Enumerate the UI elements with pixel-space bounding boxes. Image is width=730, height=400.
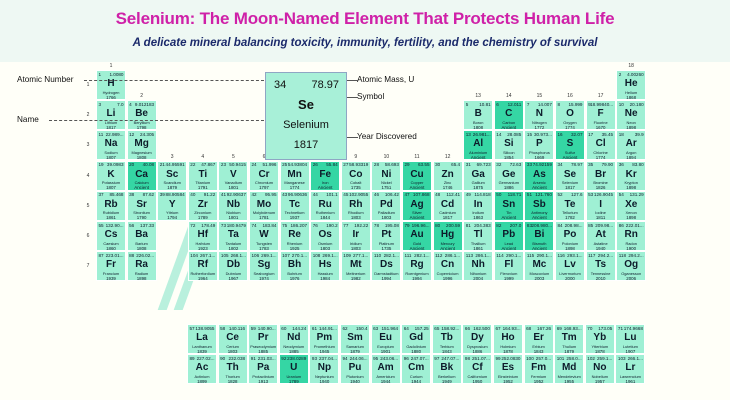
element-symbol: Gd [402,332,430,343]
element-cell-ag[interactable]: 47107.868AgSilverAncient [402,191,432,221]
element-atomic-number: 20 [129,162,134,168]
element-symbol: Ge [495,169,523,180]
element-cell-b[interactable]: 510.81BBoron1808 [463,100,493,130]
element-cell-ba[interactable]: 56137.33BaBarium1808 [127,221,157,251]
element-year: 1808 [128,246,156,251]
element-atomic-number: 26 [313,162,318,168]
element-atomic-number: 55 [99,223,104,229]
label-year-discovered: Year Discovered [357,132,417,141]
element-symbol: Ds [372,259,400,270]
element-atomic-number: 10 [619,102,624,108]
element-cell-db[interactable]: 105268.1...DbDubnium1967 [218,251,248,281]
element-atomic-number: 71 [618,326,623,332]
element-cell-mn[interactable]: 2554.93804MnManganese1774 [280,161,310,191]
element-cell-pr[interactable]: 59140.90...PrPraseodymium1885 [248,324,278,354]
element-year: 1808 [128,155,156,160]
element-atomic-number: 72 [190,223,195,229]
element-atomic-number: 90 [220,356,225,362]
element-cell-sm[interactable]: 62150.4SmSamarium1879 [340,324,370,354]
element-cell-la[interactable]: 57138.9055LaLanthanum1839 [187,324,217,354]
element-atomic-mass: 101.1 [326,192,338,198]
element-cell-am[interactable]: 95243.06...AmAmericium1944 [371,354,401,384]
element-year: 1791 [189,185,217,190]
element-cell-na[interactable]: 1122.989...NaSodium1807 [96,130,126,160]
element-symbol: Po [556,229,584,240]
element-cell-pb[interactable]: 82207.0PbLeadAncient [494,221,524,251]
element-atomic-mass: 180.9479 [227,223,246,229]
element-atomic-mass: 47.867 [201,162,215,168]
element-symbol: Cr [250,169,278,180]
element-year: Ancient [495,215,523,220]
label-symbol: Symbol [357,92,384,101]
legend-name: Selenium [266,119,346,131]
legend-atomic-mass: 78.97 [311,79,339,91]
element-atomic-number: 50 [496,192,501,198]
element-cell-n[interactable]: 714.007NNitrogen1772 [524,100,554,130]
element-cell-md[interactable]: 101258.0...MdMendelevium1955 [554,354,584,384]
element-atomic-number: 42 [252,192,257,198]
element-atomic-number: 15 [527,132,532,138]
element-atomic-number: 64 [404,326,409,332]
element-cell-ne[interactable]: 1020.180NeNeon1898 [616,100,646,130]
element-cell-li[interactable]: 37.0LiLithium1817 [96,100,126,130]
element-year: 1925 [281,246,309,251]
element-atomic-mass: 55.84 [326,162,338,168]
element-atomic-number: 100 [526,356,534,362]
element-year: 1940 [310,379,338,384]
element-cell-tc[interactable]: 4396.90636TcTechnetium1937 [280,191,310,221]
element-year: 1964 [189,276,217,281]
element-symbol: Hs [311,259,339,270]
element-atomic-mass: 1.0080 [109,72,123,78]
element-atomic-number: 91 [251,356,256,362]
element-symbol: Md [555,362,583,373]
element-atomic-number: 5 [466,102,469,108]
element-atomic-mass: 162.500 [473,326,490,332]
element-cell-dy[interactable]: 66162.500DyDysprosium1886 [462,324,492,354]
element-cell-ho[interactable]: 67164.93...HoHolmium1878 [493,324,523,354]
element-year: 1974 [250,276,278,281]
element-symbol: Rn [617,229,645,240]
element-cell-tm[interactable]: 69168.93...TmThulium1879 [554,324,584,354]
element-atomic-number: 21 [160,162,165,168]
element-year: 1803 [219,349,247,354]
element-atomic-number: 116 [558,253,565,259]
element-atomic-number: 2 [619,72,622,78]
element-atomic-mass: 51.996 [262,162,276,168]
element-symbol: Na [97,138,125,149]
element-cell-ni[interactable]: 2858.693NiNickel1751 [371,161,401,191]
element-cell-w[interactable]: 74183.84WTungsten1783 [249,221,279,251]
element-atomic-number: 102 [587,356,595,362]
element-year: Ancient [434,246,462,251]
element-symbol: Mo [250,199,278,210]
element-atomic-number: 113 [466,253,473,259]
element-cell-fe[interactable]: 2655.84FeIronAncient [310,161,340,191]
element-year: 1885 [280,349,308,354]
element-atomic-mass: 15.999 [568,102,582,108]
element-atomic-mass: 227.02... [197,356,215,362]
element-cell-cf[interactable]: 98251.07...CfCalifornium1950 [462,354,492,384]
element-cell-i[interactable]: 53126.9045IIodine1811 [586,191,616,221]
element-symbol: Eu [372,332,400,343]
element-cell-bi[interactable]: 83208.980...BiBismuthAncient [524,221,554,251]
leader-name [49,120,264,121]
element-year: 1861 [464,246,492,251]
element-atomic-number: 78 [374,223,379,229]
element-cell-rb[interactable]: 3785.468RbRubidium1861 [96,191,126,221]
element-atomic-mass: 127.6 [571,192,583,198]
element-cell-au[interactable]: 79196.96...AuGoldAncient [402,221,432,251]
element-cell-yb[interactable]: 70173.05YbYtterbium1878 [585,324,615,354]
element-cell-ta[interactable]: 73180.9479TaTantalum1802 [218,221,248,251]
element-cell-tl[interactable]: 81204.383TlThallium1861 [463,221,493,251]
element-cell-th[interactable]: 90232.038ThThorium1828 [218,354,248,384]
element-cell-s[interactable]: 1632.07SSulfurAncient [555,130,585,160]
element-year: 1801 [219,215,247,220]
element-atomic-number: 106 [252,253,260,259]
element-cell-pd[interactable]: 46106.42PdPalladium1803 [371,191,401,221]
element-atomic-number: 53 [588,192,593,198]
element-atomic-number: 48 [435,192,440,198]
element-symbol: Ba [128,229,156,240]
element-cell-eu[interactable]: 63151.964EuEuropium1901 [371,324,401,354]
element-atomic-mass: 270.1... [292,253,307,259]
element-symbol: Ni [372,169,400,180]
element-cell-ga[interactable]: 3169.723GaGallium1875 [463,161,493,191]
element-cell-ra[interactable]: 88226.02...RaRadium1898 [127,251,157,281]
element-cell-co[interactable]: 2758.93319CoCobalt1735 [341,161,371,191]
element-year: 1828 [219,379,247,384]
element-cell-ca[interactable]: 2040.08CaCalciumAncient [127,161,157,191]
element-atomic-mass: 173.05 [598,326,612,332]
element-cell-br[interactable]: 3579.90BrBromine1826 [586,161,616,191]
element-atomic-mass: 44.95591 [166,162,185,168]
element-cell-os[interactable]: 76190.2OsOsmium1803 [310,221,340,251]
element-cell-sc[interactable]: 2144.95591ScScandium1879 [157,161,187,191]
element-atomic-mass: 231.03... [258,356,276,362]
element-cell-hf[interactable]: 72178.49HfHafnium1923 [188,221,218,251]
element-cell-k[interactable]: 1939.0983KPotassium1807 [96,161,126,191]
element-cell-mt[interactable]: 109277.1...MtMeitnerium1982 [341,251,371,281]
element-atomic-mass: 114.818 [474,192,490,198]
element-atomic-number: 44 [313,192,318,198]
element-symbol: Pa [249,362,277,373]
element-atomic-mass: 112.41 [446,192,460,198]
element-year: 1907 [616,349,644,354]
element-symbol: Ce [219,332,247,343]
element-cell-fr[interactable]: 87223.01...FrFrancium1939 [96,251,126,281]
element-atomic-number: 77 [343,223,348,229]
element-cell-es[interactable]: 99252.0830EsEinsteinium1952 [493,354,523,384]
element-atomic-mass: 14.007 [538,102,552,108]
element-year: 1798 [128,125,156,130]
element-atomic-mass: 9.012183 [135,102,154,108]
element-cell-rh[interactable]: 45102.9055RhRhodium1803 [341,191,371,221]
element-cell-pu[interactable]: 94244.06...PuPlutonium1940 [340,354,370,384]
element-cell-rf[interactable]: 104267.1...RfRutherfordium1964 [188,251,218,281]
element-atomic-mass: 237.04... [319,356,337,362]
element-atomic-number: 58 [220,326,225,332]
element-cell-al[interactable]: 1326.981...AlAluminiumAncient [463,130,493,160]
element-cell-cu[interactable]: 2963.55CuCopperAncient [402,161,432,191]
element-atomic-number: 59 [251,326,256,332]
element-year: 1774 [556,125,584,130]
legend-atomic-number: 34 [274,79,286,91]
element-cell-sg[interactable]: 106269.1...SgSeaborgium1974 [249,251,279,281]
element-atomic-number: 70 [587,326,592,332]
element-symbol: W [250,229,278,240]
element-cell-bk[interactable]: 97247.07...BkBerkelium1949 [432,354,462,384]
element-cell-at[interactable]: 85209.98...AtAstatine1940 [586,221,616,251]
element-symbol: Se [556,169,584,180]
element-cell-pm[interactable]: 61144.91...PmPromethium1945 [309,324,339,354]
element-symbol: Mn [281,169,309,180]
element-cell-ti[interactable]: 2247.867TiTitanium1791 [188,161,218,191]
element-cell-xe[interactable]: 54131.29XeXenon1898 [616,191,646,221]
element-atomic-mass: 20.180 [630,102,644,108]
element-atomic-number: 65 [434,326,439,332]
element-cell-y[interactable]: 3988.90584YYttrium1794 [157,191,187,221]
element-atomic-mass: 277.1... [353,253,368,259]
element-cell-cl[interactable]: 1735.45ClChlorine1774 [586,130,616,160]
element-symbol: Ac [188,362,216,373]
element-year: 1952 [525,379,553,384]
element-cell-gd[interactable]: 64157.25GdGadolinium1880 [401,324,431,354]
element-atomic-number: 79 [405,223,410,229]
element-atomic-number: 75 [282,223,287,229]
element-year: 1913 [249,379,277,384]
element-cell-kr[interactable]: 3683.80KrKrypton1898 [616,161,646,191]
element-cell-be[interactable]: 49.012183BeBeryllium1798 [127,100,157,130]
element-atomic-mass: 164.93... [503,326,521,332]
element-symbol: Pt [372,229,400,240]
element-atomic-number: 63 [373,326,378,332]
element-cell-pa[interactable]: 91231.03...PaProtactinium1913 [248,354,278,384]
element-cell-cm[interactable]: 96247.07...CmCurium1944 [401,354,431,384]
element-cell-zn[interactable]: 3065.4ZnZinc1746 [433,161,463,191]
element-cell-ts[interactable]: 117294.2...TsTennessine2010 [586,251,616,281]
element-atomic-number: 82 [496,223,501,229]
element-cell-o[interactable]: 815.999OOxygen1774 [555,100,585,130]
element-atomic-mass: 63.55 [418,162,430,168]
element-atomic-number: 101 [557,356,565,362]
element-year: 1861 [97,215,125,220]
element-cell-bh[interactable]: 107270.1...BhBohrium1976 [280,251,310,281]
element-symbol: Br [587,169,615,180]
element-symbol: Rg [403,259,431,270]
element-cell-ce[interactable]: 58140.116CeCerium1803 [218,324,248,354]
element-cell-lr[interactable]: 103266.1...LrLawrencium1961 [615,354,645,384]
element-year: 1766 [97,95,125,100]
element-cell-ac[interactable]: 89227.02...AcActinium1899 [187,354,217,384]
element-year: 1817 [97,125,125,130]
element-symbol: O [556,108,584,119]
element-atomic-number: 112 [435,253,442,259]
element-year: 1801 [219,185,247,190]
element-symbol: Cu [403,169,431,180]
element-atomic-number: 22 [190,162,195,168]
element-year: 1982 [342,276,370,281]
period-label-4: 4 [82,173,94,179]
element-symbol: Y [158,199,186,210]
element-cell-as[interactable]: 3374.92159AsArsenicAncient [524,161,554,191]
element-cell-cr[interactable]: 2451.996CrChromium1797 [249,161,279,191]
element-symbol: Zr [189,199,217,210]
element-atomic-mass: 157.25 [415,326,429,332]
element-cell-f[interactable]: 918.99840...FFluorine1670 [586,100,616,130]
element-cell-fm[interactable]: 100257.0...FmFermium1952 [524,354,554,384]
element-cell-po[interactable]: 84208.98...PoPolonium1898 [555,221,585,251]
element-year: 1885 [249,349,277,354]
element-cell-te[interactable]: 52127.6TeTellurium1782 [555,191,585,221]
element-symbol: Pm [310,332,338,343]
element-atomic-number: 95 [373,356,378,362]
element-atomic-mass: 209.98... [595,223,613,229]
element-atomic-number: 19 [99,162,104,168]
element-atomic-mass: 196.96... [412,223,430,229]
element-symbol: Ho [494,332,522,343]
element-symbol: U [280,362,308,373]
element-symbol: Sg [250,259,278,270]
element-cell-v[interactable]: 2350.9415VVanadium1801 [218,161,248,191]
element-cell-fl[interactable]: 114290.1...FlFlerovium1999 [494,251,524,281]
element-cell-ru[interactable]: 44101.1RuRuthenium1844 [310,191,340,221]
element-year: 1967 [219,276,247,281]
element-symbol: Tb [433,332,461,343]
element-cell-c[interactable]: 612.011CCarbonAncient [494,100,524,130]
element-year: 1670 [587,125,615,130]
element-symbol: Fe [311,169,339,180]
element-atomic-mass: 88.90584 [166,192,185,198]
element-atomic-mass: 138.9055 [195,326,214,332]
element-symbol: Lv [556,259,584,270]
group-label-16: 16 [555,93,585,99]
element-symbol: Sr [128,199,156,210]
element-cell-ge[interactable]: 3272.63GeGermanium1886 [494,161,524,191]
element-year: 1879 [341,349,369,354]
element-cell-mc[interactable]: 115290.1...McMoscovium2003 [524,251,554,281]
element-cell-he[interactable]: 24.00260HeHelium1868 [616,70,646,100]
element-atomic-mass: 190.2 [326,223,338,229]
element-cell-rg[interactable]: 111282.1...RgRoentgenium1994 [402,251,432,281]
element-cell-cn[interactable]: 112286.1...CnCopernicium1996 [433,251,463,281]
element-symbol: Cd [434,199,462,210]
element-cell-nh[interactable]: 113286.1...NhNihonium2004 [463,251,493,281]
element-cell-ds[interactable]: 110282.1...DsDarmstadtium1994 [371,251,401,281]
element-cell-sb[interactable]: 51121.760SbAntimonyAncient [524,191,554,221]
element-cell-np[interactable]: 93237.04...NpNeptunium1940 [309,354,339,384]
element-cell-si[interactable]: 1428.085SiSilicon1854 [494,130,524,160]
element-year: 1940 [587,246,615,251]
element-year: 1940 [341,379,369,384]
element-year: 1996 [434,276,462,281]
element-cell-p[interactable]: 1530.973...PPhosphorus1669 [524,130,554,160]
element-cell-u[interactable]: 92238.0289UUranium1789 [279,354,309,384]
element-cell-ir[interactable]: 77192.22IrIridium1803 [341,221,371,251]
element-atomic-mass: 222.01... [626,223,644,229]
element-year: 1900 [617,246,645,251]
element-cell-nd[interactable]: 60144.24NdNeodymium1885 [279,324,309,354]
element-cell-se[interactable]: 3478.97SeSelenium1817 [555,161,585,191]
element-symbol: Cn [434,259,462,270]
element-cell-sn[interactable]: 50118.71SnTinAncient [494,191,524,221]
element-symbol: Pu [341,362,369,373]
element-year: Ancient [495,246,523,251]
element-atomic-mass: 144.91... [319,326,337,332]
element-cell-mo[interactable]: 4295.95MoMolybdenum1781 [249,191,279,221]
element-atomic-mass: 26.981... [473,132,491,138]
element-year: 1898 [556,246,584,251]
label-atomic-number: Atomic Number [17,75,73,84]
element-symbol: Am [372,362,400,373]
element-cell-pt[interactable]: 78195.08PtPlatinum1735 [371,221,401,251]
element-year: Ancient [464,155,492,160]
element-cell-lu[interactable]: 71174.9668LuLutetium1907 [615,324,645,354]
element-atomic-number: 118 [619,253,626,259]
element-cell-sr[interactable]: 3887.62SrStrontium1790 [127,191,157,221]
element-atomic-mass: 140.90... [258,326,276,332]
element-cell-hs[interactable]: 108269.1...HsHassium1984 [310,251,340,281]
element-year: 1803 [342,215,370,220]
element-atomic-number: 11 [99,132,104,138]
element-symbol: Fl [495,259,523,270]
element-symbol: Sm [341,332,369,343]
element-atomic-number: 6 [496,102,499,108]
group-label-3: 3 [157,154,187,160]
element-atomic-number: 46 [374,192,379,198]
element-atomic-mass: 266.1... [628,356,643,362]
element-cell-lv[interactable]: 116293.1...LvLivermorium2000 [555,251,585,281]
element-atomic-number: 52 [558,192,563,198]
element-cell-er[interactable]: 68167.26ErErbium1843 [524,324,554,354]
element-atomic-mass: 91.22 [204,192,216,198]
element-year: 1807 [97,155,125,160]
element-cell-cd[interactable]: 48112.41CdCadmium1817 [433,191,463,221]
element-symbol: Pd [372,199,400,210]
element-year: 1817 [434,215,462,220]
element-year: 1794 [158,215,186,220]
element-cell-rn[interactable]: 86222.01...RnRadon1900 [616,221,646,251]
element-cell-h[interactable]: 11.0080HHydrogen1766 [96,70,126,100]
element-symbol: Xe [617,199,645,210]
element-cell-mg[interactable]: 1224.305MgMagnesium1808 [127,130,157,160]
element-atomic-number: 54 [619,192,624,198]
element-cell-ar[interactable]: 1839.9ArArgon1894 [616,130,646,160]
element-symbol: Sc [158,169,186,180]
element-atomic-number: 66 [465,326,470,332]
element-atomic-mass: 290.1... [537,253,552,259]
element-cell-og[interactable]: 118294.2...OgOganesson2006 [616,251,646,281]
element-year: 1898 [617,125,645,130]
element-symbol: No [586,362,614,373]
element-cell-tb[interactable]: 65158.92...TbTerbium1843 [432,324,462,354]
element-atomic-mass: 79.90 [602,162,614,168]
element-atomic-mass: 257.0... [536,356,551,362]
element-year: 1939 [97,276,125,281]
element-cell-nb[interactable]: 4192.90637NbNiobium1801 [218,191,248,221]
element-cell-no[interactable]: 102259.1...NoNobelium1957 [585,354,615,384]
element-cell-hg[interactable]: 80200.59HgMercuryAncient [433,221,463,251]
element-cell-cs[interactable]: 55132.90...CsCaesium1860 [96,221,126,251]
element-year: 1937 [281,215,309,220]
element-cell-zr[interactable]: 4091.22ZrZirconium1789 [188,191,218,221]
element-year: 2010 [587,276,615,281]
element-year: 1886 [495,185,523,190]
element-year: 1774 [587,155,615,160]
element-cell-re[interactable]: 75186.207ReRhenium1925 [280,221,310,251]
element-cell-in[interactable]: 49114.818InIndium1863 [463,191,493,221]
